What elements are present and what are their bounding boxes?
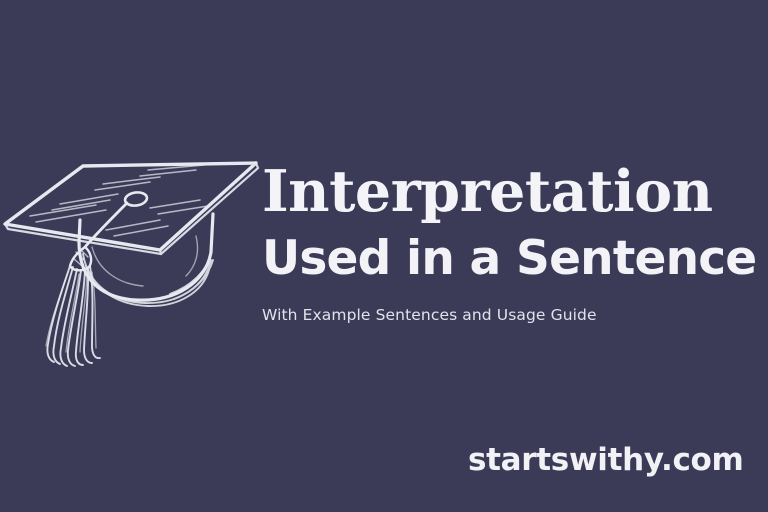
page-title-word: Interpretation [262,160,762,224]
poster-canvas: Interpretation Used in a Sentence With E… [0,0,768,512]
brand-watermark: startswithy.com [468,440,744,480]
graduation-cap-icon [0,148,262,374]
page-subtitle: With Example Sentences and Usage Guide [262,304,762,326]
page-title-phrase: Used in a Sentence [262,230,762,288]
headline-block: Interpretation Used in a Sentence With E… [262,160,762,326]
